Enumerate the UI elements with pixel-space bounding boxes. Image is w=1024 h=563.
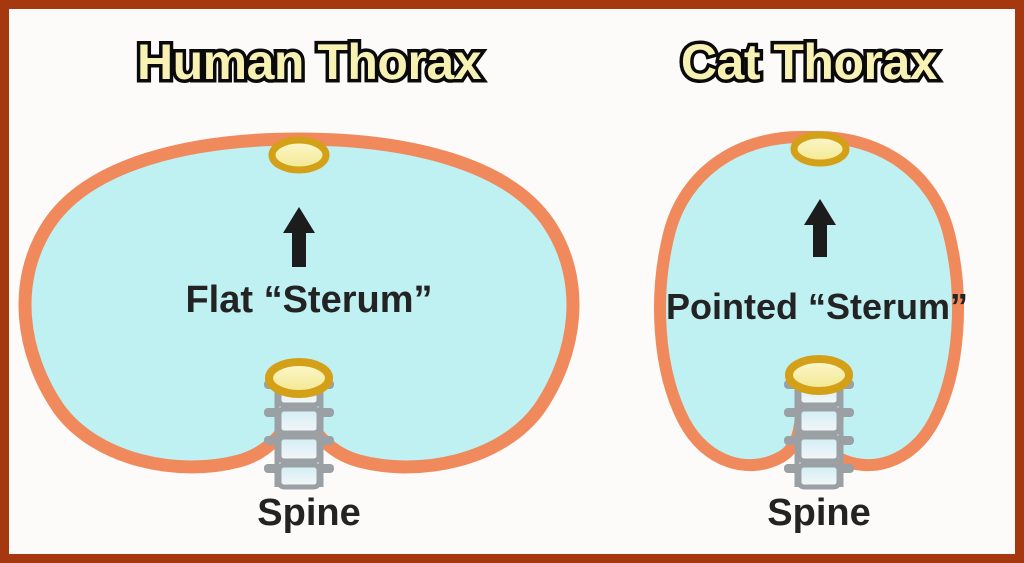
human-vertebral-marker xyxy=(269,362,329,394)
panel-title-human: Human Thorax xyxy=(39,37,579,87)
cat-spine-illustration xyxy=(784,380,854,487)
diagram-inner-background: Human Thorax Cat Thorax Flat “Sterum” Po… xyxy=(9,9,1015,554)
human-sternum-label: Flat “Sterum” xyxy=(69,279,549,322)
cat-sternum-marker xyxy=(794,135,846,163)
cat-sternum-label: Pointed “Sterum” xyxy=(631,286,1003,328)
cat-spine-label: Spine xyxy=(639,492,999,535)
panel-title-cat: Cat Thorax xyxy=(609,37,1009,87)
human-spine-label: Spine xyxy=(119,492,499,535)
human-sternum-marker xyxy=(272,140,326,170)
cat-vertebral-marker xyxy=(789,359,849,391)
diagram-canvas: Human Thorax Cat Thorax Flat “Sterum” Po… xyxy=(0,0,1024,563)
